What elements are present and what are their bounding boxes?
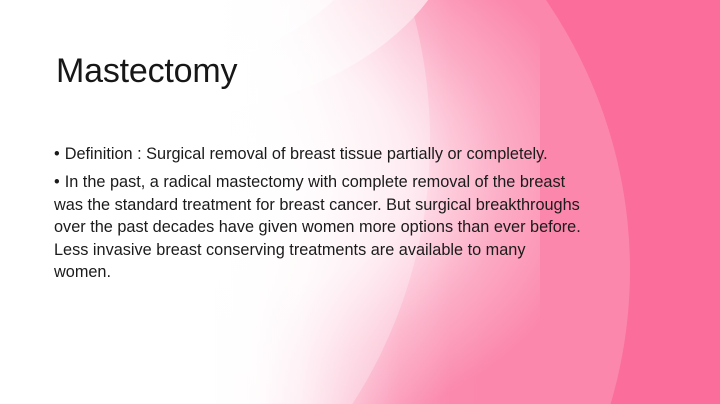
body-paragraph: •In the past, a radical mastectomy with …	[54, 171, 584, 283]
body-paragraph-text: Definition : Surgical removal of breast …	[65, 145, 548, 163]
bullet-glyph: •	[54, 173, 60, 191]
body-paragraph: •Definition : Surgical removal of breast…	[54, 143, 584, 165]
page-title: Mastectomy	[56, 50, 237, 92]
body-paragraph-text: In the past, a radical mastectomy with c…	[54, 173, 581, 281]
bullet-glyph: •	[54, 145, 60, 163]
presentation-slide: Mastectomy •Definition : Surgical remova…	[0, 0, 720, 404]
slide-body: •Definition : Surgical removal of breast…	[54, 143, 584, 283]
